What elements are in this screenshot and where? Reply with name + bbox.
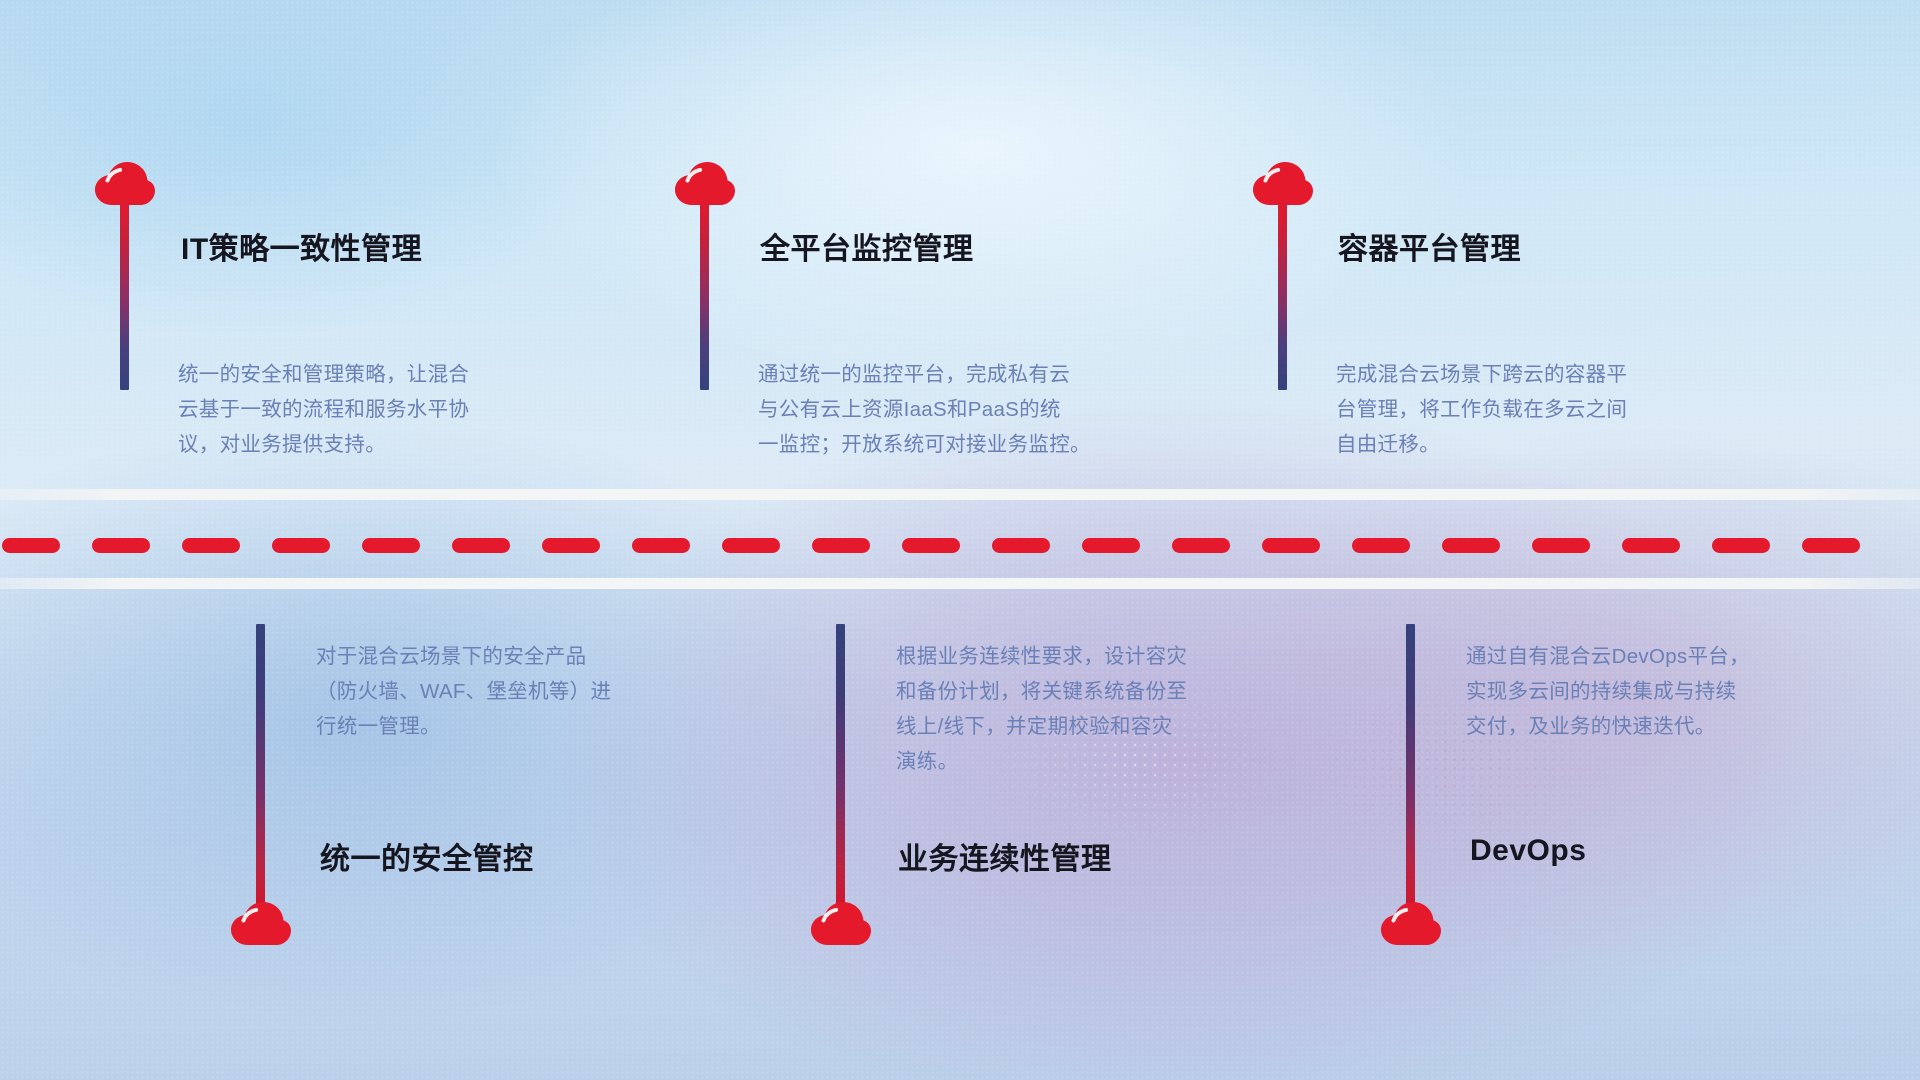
bottom-item-heading-1: 统一的安全管控: [320, 834, 534, 878]
road-edge-top: [0, 489, 1920, 500]
bottom-item-body-3: 通过自有混合云DevOps平台， 实现多云间的持续集成与持续 交付，及业务的快速…: [1466, 639, 1896, 744]
top-item-heading-1: IT策略一致性管理: [181, 224, 422, 268]
top-item-body-2: 通过统一的监控平台，完成私有云 与公有云上资源IaaS和PaaS的统 一监控；开…: [758, 357, 1208, 462]
cloud-icon: [1380, 900, 1442, 946]
cloud-icon: [810, 900, 872, 946]
road-dash: [812, 538, 870, 553]
road-dash: [632, 538, 690, 553]
road-dash: [722, 538, 780, 553]
road-dash: [92, 538, 150, 553]
top-item-body-1: 统一的安全和管理策略，让混合 云基于一致的流程和服务水平协 议，对业务提供支持。: [178, 357, 608, 462]
top-item-body-3: 完成混合云场景下跨云的容器平 台管理，将工作负载在多云之间 自由迁移。: [1336, 357, 1766, 462]
road-dash: [272, 538, 330, 553]
cloud-icon: [230, 900, 292, 946]
connector-stem: [120, 196, 129, 390]
bottom-item-body-1: 对于混合云场景下的安全产品 （防火墙、WAF、堡垒机等）进 行统一管理。: [316, 639, 746, 744]
road-dash: [1172, 538, 1230, 553]
road-edge-bottom: [0, 578, 1920, 589]
road-dash: [542, 538, 600, 553]
road-dash: [452, 538, 510, 553]
road-dash: [2, 538, 60, 553]
road-dash: [182, 538, 240, 553]
road-dash: [1352, 538, 1410, 553]
connector-stem: [836, 624, 845, 912]
connector-stem: [700, 196, 709, 390]
connector-stem: [1278, 196, 1287, 390]
bottom-item-heading-3: DevOps: [1470, 834, 1586, 868]
road-dash: [992, 538, 1050, 553]
road-dash: [902, 538, 960, 553]
connector-stem: [1406, 624, 1415, 912]
road-dash: [1802, 538, 1860, 553]
road-dash: [1082, 538, 1140, 553]
road-dash: [362, 538, 420, 553]
road-dash: [1532, 538, 1590, 553]
infographic-canvas: IT策略一致性管理 统一的安全和管理策略，让混合 云基于一致的流程和服务水平协 …: [0, 0, 1920, 1080]
connector-stem: [256, 624, 265, 912]
top-item-heading-2: 全平台监控管理: [760, 224, 974, 268]
road-center-dashed-line: [0, 537, 1920, 553]
road-dash: [1712, 538, 1770, 553]
bottom-item-heading-2: 业务连续性管理: [898, 834, 1112, 878]
road-dash: [1262, 538, 1320, 553]
road-dash: [1622, 538, 1680, 553]
road-dash: [1442, 538, 1500, 553]
bottom-item-body-2: 根据业务连续性要求，设计容灾 和备份计划，将关键系统备份至 线上/线下，并定期校…: [896, 639, 1326, 779]
top-item-heading-3: 容器平台管理: [1338, 224, 1521, 268]
